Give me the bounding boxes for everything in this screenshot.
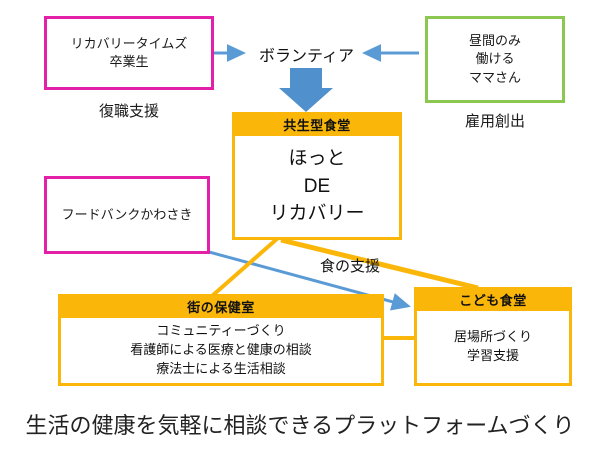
kyosei-line-3: リカバリー	[269, 200, 364, 228]
mothers-line-2: 働ける	[469, 50, 521, 68]
recovery-times-line-1: リカバリータイムズ	[71, 35, 188, 53]
node-food-bank-kawasaki[interactable]: フードバンクかわさき	[44, 176, 210, 254]
food-bank-label: フードバンクかわさき	[62, 206, 193, 224]
kids-cafeteria-line-2: 学習支援	[467, 347, 519, 366]
caption-koyo-sosyutsu: 雇用創出	[425, 110, 565, 131]
kyosei-line-2: DE	[304, 173, 330, 201]
diagram-canvas: リカバリータイムズ 卒業生 復職支援 昼間のみ 働ける ママさん 雇用創出 ボラ…	[0, 0, 600, 451]
node-volunteer[interactable]: ボランティア	[254, 42, 359, 66]
recovery-times-line-2: 卒業生	[71, 53, 188, 71]
node-kids-cafeteria[interactable]: こども食堂 居場所づくり 学習支援	[414, 287, 572, 386]
node-health-room[interactable]: 街の保健室 コミュニティーづくり 看護師による医療と健康の相談 療法士による生活…	[58, 294, 384, 386]
edge-kyosei-to-health	[212, 238, 278, 296]
node-daytime-mothers-text: 昼間のみ 働ける ママさん	[469, 32, 521, 87]
health-room-line-2: 看護師による医療と健康の相談	[130, 341, 312, 360]
mothers-line-1: 昼間のみ	[469, 32, 521, 50]
health-room-line-3: 療法士による生活相談	[156, 360, 286, 379]
kyosei-cafeteria-body: ほっと DE リカバリー	[235, 136, 399, 237]
node-daytime-mothers[interactable]: 昼間のみ 働ける ママさん	[425, 16, 565, 103]
kids-cafeteria-line-1: 居場所づくり	[454, 328, 532, 347]
kyosei-cafeteria-title: 共生型食堂	[232, 112, 402, 136]
kyosei-line-1: ほっと	[288, 145, 345, 173]
node-recovery-times-graduates[interactable]: リカバリータイムズ 卒業生	[44, 16, 214, 90]
health-room-title: 街の保健室	[58, 294, 384, 318]
node-kyosei-cafeteria[interactable]: 共生型食堂 ほっと DE リカバリー	[232, 112, 402, 240]
kids-cafeteria-body: 居場所づくり 学習支援	[417, 311, 569, 383]
health-room-line-1: コミュニティーづくり	[156, 322, 285, 341]
caption-fukushoku-shien: 復職支援	[44, 100, 214, 121]
edge-volunteer-to-kyosei	[279, 68, 333, 112]
edge-label-food-support: 食の支援	[300, 255, 400, 276]
footer-caption: 生活の健康を気軽に相談できるプラットフォームづくり	[0, 408, 600, 440]
mothers-line-3: ママさん	[469, 69, 521, 87]
node-recovery-times-text: リカバリータイムズ 卒業生	[71, 35, 188, 72]
health-room-body: コミュニティーづくり 看護師による医療と健康の相談 療法士による生活相談	[61, 318, 381, 383]
kids-cafeteria-title: こども食堂	[414, 287, 572, 311]
